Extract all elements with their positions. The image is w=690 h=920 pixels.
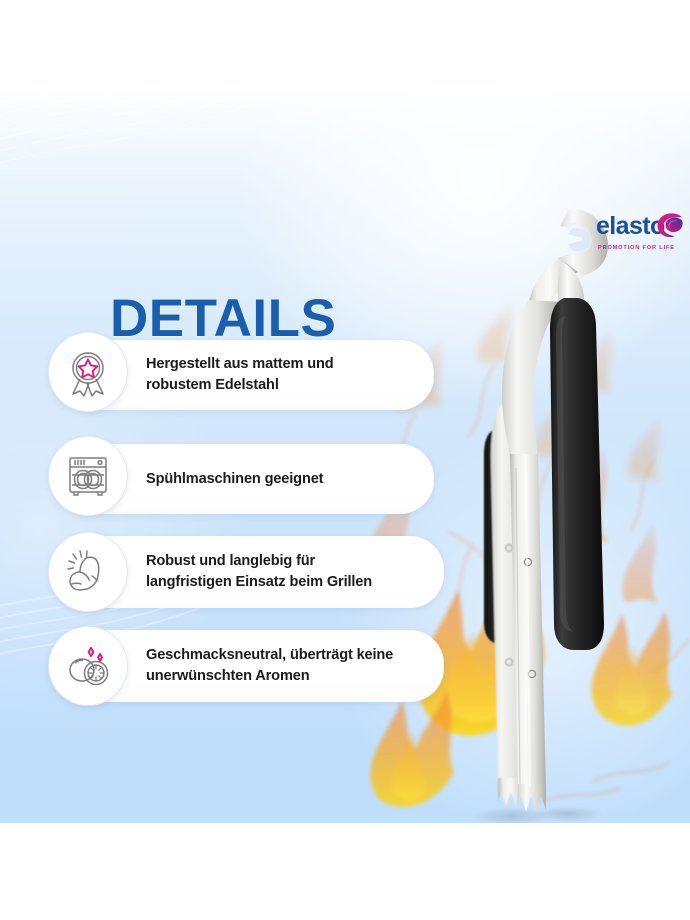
feature-text-durability: Robust und langlebig für langfristigen E… bbox=[146, 551, 372, 592]
feature-card-list: Hergestellt aus mattem und robustem Edel… bbox=[0, 92, 690, 823]
feature-text-dishwasher: Spühlmaschinen geeignet bbox=[146, 469, 323, 490]
feature-text-taste-neutral: Geschmacksneutral, überträgt keine unerw… bbox=[146, 645, 393, 686]
lemon-sparkle-icon bbox=[48, 626, 128, 706]
flexed-bicep-icon bbox=[48, 532, 128, 612]
feature-text-material: Hergestellt aus mattem und robustem Edel… bbox=[146, 354, 334, 395]
elasto-swoosh-icon bbox=[656, 212, 684, 240]
brand-logo: elasto bbox=[596, 210, 682, 262]
content-panel: Hergestellt aus mattem und robustem Edel… bbox=[0, 92, 690, 823]
infographic-canvas: Hergestellt aus mattem und robustem Edel… bbox=[0, 0, 690, 920]
brand-tagline: PROMOTION FOR LIFE bbox=[598, 245, 684, 251]
dishwasher-icon bbox=[48, 436, 128, 516]
brand-name: elasto bbox=[596, 214, 665, 239]
page-title: DETAILS bbox=[110, 292, 336, 345]
